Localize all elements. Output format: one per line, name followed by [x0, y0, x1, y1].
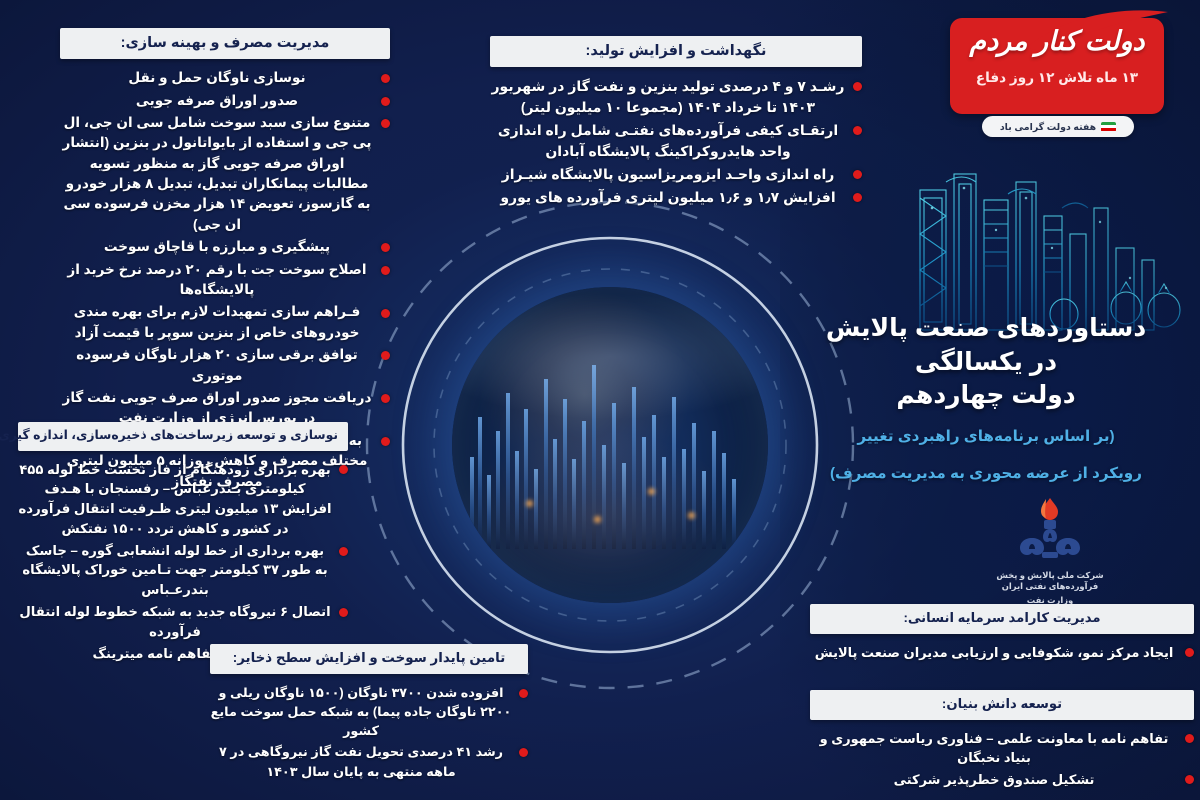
badge-main-text: دولت کنار مردم — [950, 26, 1164, 57]
list-item: بهره برداری زودهنگام از فاز نخست خط لوله… — [18, 460, 348, 539]
section-title-consumption: مدیریت مصرف و بهینه سازی: — [60, 28, 390, 59]
section-title-human-capital: مدیریت کارامد سرمایه انسانی: — [810, 604, 1194, 634]
bullet-list-human-capital: ایجاد مرکز نمو، شکوفایی و ارزیابی مدیران… — [810, 643, 1194, 663]
section-title-infrastructure: نوسازی و توسعه زیرساخت‌های ذخیره‌سازی، ا… — [18, 422, 348, 451]
list-item: پیشگیری و مبارزه با قاچاق سوخت — [60, 237, 390, 257]
bullet-list-knowledge-based: تفاهم نامه با معاونت علمی – فناوری ریاست… — [810, 729, 1194, 790]
list-item: اتصال ۶ نیروگاه جدید به شبکه خطوط لوله ا… — [18, 602, 348, 642]
list-item: صدور اوراق صرفه جویی — [60, 91, 390, 111]
section-fuel-supply: تامین پایدار سوخت و افزایش سطح ذخایر: اف… — [210, 644, 528, 783]
list-item: رشـد ۷ و ۴ درصدی تولید بنزین و نفت گاز د… — [490, 76, 862, 118]
badge-pill-text: هفته دولت گرامی باد — [1000, 121, 1096, 133]
list-item: توافق برقی سازی ۲۰ هزار ناوگان فرسوده مو… — [60, 345, 390, 386]
list-item: ایجاد مرکز نمو، شکوفایی و ارزیابی مدیران… — [810, 643, 1194, 663]
list-item: ارتقـای کیفی فرآورده‌های نفتـی شامل راه … — [490, 120, 862, 162]
section-title-production: نگهداشت و افزایش تولید: — [490, 36, 862, 67]
list-item: بهره برداری از خط لوله انشعابی گوره – جا… — [18, 541, 348, 600]
title-line-3: دولت چهاردهم — [796, 379, 1176, 413]
list-item: تشکیل صندوق خطرپذیر شرکتی — [810, 770, 1194, 790]
section-knowledge-based: توسعه دانش بنیان: تفاهم نامه با معاونت ع… — [810, 690, 1194, 791]
list-item: نوسازی ناوگان حمل و نقل — [60, 68, 390, 88]
title-line-1: دستاوردهای صنعت پالایش — [796, 312, 1176, 346]
bullet-list-production: رشـد ۷ و ۴ درصدی تولید بنزین و نفت گاز د… — [490, 76, 862, 208]
section-human-capital: مدیریت کارامد سرمایه انسانی: ایجاد مرکز … — [810, 604, 1194, 664]
logo-text-line-1: شرکت ملی پالایش و پخش فرآورده‌های نفتی ا… — [990, 570, 1110, 593]
government-week-badge: دولت کنار مردم ۱۳ ماه تلاش ۱۲ روز دفاع ه… — [932, 12, 1182, 140]
page-title: دستاوردهای صنعت پالایش در یکسالگی دولت چ… — [796, 312, 1176, 488]
title-subtitle-2: رویکرد از عرضه محوری به مدیریت مصرف) — [796, 461, 1176, 488]
title-line-2: در یکسالگی — [796, 346, 1176, 380]
list-item: متنوع سازی سبد سوخت شامل سی ان جی، ال پی… — [60, 113, 390, 235]
list-item: افزوده شدن ۳۷۰۰ ناوگان (۱۵۰۰ ناوگان ریلی… — [210, 683, 528, 741]
bullet-list-infrastructure: بهره برداری زودهنگام از فاز نخست خط لوله… — [18, 460, 348, 664]
list-item: فـراهم سازی تمهیدات لازم برای بهره مندی … — [60, 302, 390, 343]
iran-flag-icon — [1101, 122, 1116, 132]
oil-ministry-emblem-icon — [1002, 494, 1098, 568]
section-title-fuel-supply: تامین پایدار سوخت و افزایش سطح ذخایر: — [210, 644, 528, 674]
badge-pill: هفته دولت گرامی باد — [982, 116, 1134, 137]
list-item: رشد ۴۱ درصدی تحویل نفت گاز نیروگاهی در ۷… — [210, 742, 528, 780]
section-production-increase: نگهداشت و افزایش تولید: رشـد ۷ و ۴ درصدی… — [490, 36, 862, 210]
list-item: راه اندازی واحـد ایزومریزاسیون پالایشگاه… — [490, 164, 862, 185]
bullet-list-fuel-supply: افزوده شدن ۳۷۰۰ ناوگان (۱۵۰۰ ناوگان ریلی… — [210, 683, 528, 781]
niordc-logo: شرکت ملی پالایش و پخش فرآورده‌های نفتی ا… — [990, 494, 1110, 602]
badge-sub-text: ۱۳ ماه تلاش ۱۲ روز دفاع — [950, 70, 1164, 86]
title-subtitle-1: (بر اساس برنامه‌های راهبردی تغییر — [796, 424, 1176, 451]
list-item: تفاهم نامه با معاونت علمی – فناوری ریاست… — [810, 729, 1194, 768]
section-infrastructure: نوسازی و توسعه زیرساخت‌های ذخیره‌سازی، ا… — [18, 422, 348, 665]
list-item: اصلاح سوخت جت با رقم ۲۰ درصد نرخ خرید از… — [60, 260, 390, 301]
infographic-canvas: دولت کنار مردم ۱۳ ماه تلاش ۱۲ روز دفاع ه… — [0, 0, 1200, 800]
list-item: افزایش ۱٫۷ و ۱٫۶ میلیون لیتری فرآورده ها… — [490, 187, 862, 208]
section-title-knowledge-based: توسعه دانش بنیان: — [810, 690, 1194, 720]
